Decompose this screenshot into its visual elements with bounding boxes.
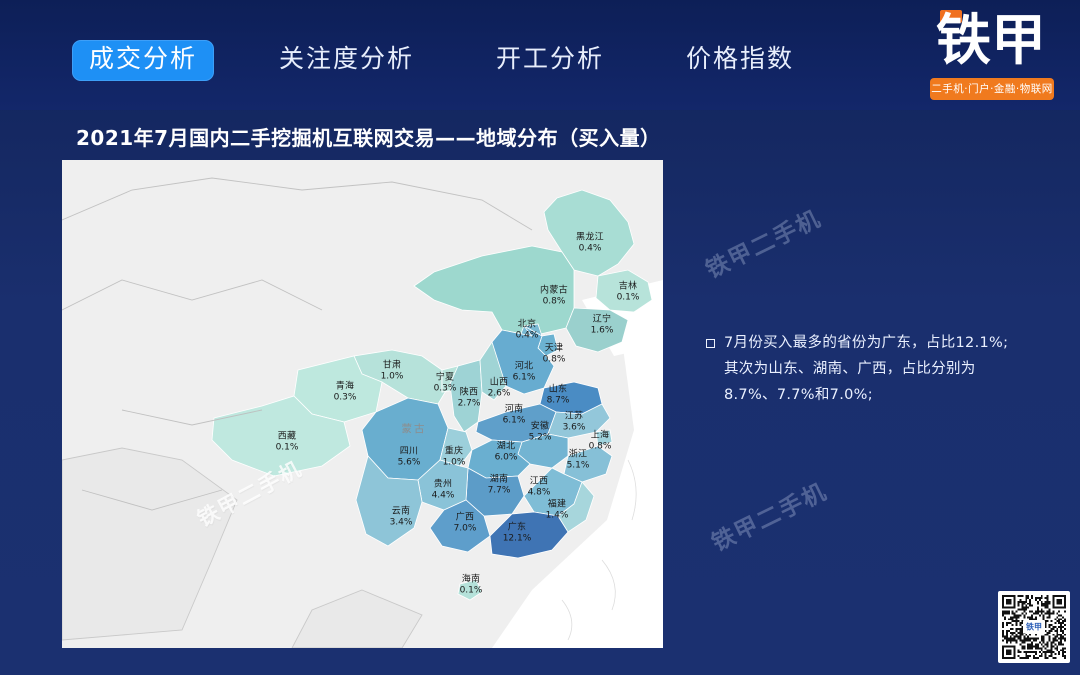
insight-line-3: 8.7%、7.7%和7.0%; [724,382,1008,408]
chart-title: 2021年7月国内二手挖掘机互联网交易——地域分布（买入量） [76,122,661,151]
tab-transaction-analysis[interactable]: 成交分析 [72,40,214,81]
insight-text: 7月份买入最多的省份为广东，占比12.1%; 其次为山东、湖南、广西，占比分别为… [724,330,1008,408]
qr-code[interactable]: 铁甲 [998,591,1070,663]
logo-mark: 铁甲 [920,8,1062,74]
insight-bullet-item: 7月份买入最多的省份为广东，占比12.1%; 其次为山东、湖南、广西，占比分别为… [706,330,1056,408]
tab-price-index[interactable]: 价格指数 [669,40,811,81]
china-choropleth-map[interactable]: 黑龙江0.4%内蒙古0.8%吉林0.1%辽宁1.6%北京0.4%天津0.8%河北… [62,160,663,648]
top-navigation-bar: 成交分析 关注度分析 开工分析 价格指数 铁甲 二手机·门户·金融·物联网 [0,0,1080,110]
tab-list: 成交分析 关注度分析 开工分析 价格指数 [72,36,811,84]
brand-logo: 铁甲 二手机·门户·金融·物联网 [920,8,1062,104]
tab-attention-analysis[interactable]: 关注度分析 [262,40,431,81]
tab-startup-analysis[interactable]: 开工分析 [479,40,621,81]
insight-line-2: 其次为山东、湖南、广西，占比分别为 [724,356,1008,382]
insight-panel: 7月份买入最多的省份为广东，占比12.1%; 其次为山东、湖南、广西，占比分别为… [706,330,1056,408]
logo-wordmark: 铁甲 [920,8,1062,72]
insight-line-1: 7月份买入最多的省份为广东，占比12.1%; [724,330,1008,356]
qr-center-logo: 铁甲 [1023,621,1045,634]
watermark: 铁甲二手机 [705,472,832,557]
map-svg [62,160,663,648]
watermark: 铁甲二手机 [699,199,826,284]
logo-tagline: 二手机·门户·金融·物联网 [930,78,1054,100]
slide-root: 成交分析 关注度分析 开工分析 价格指数 铁甲 二手机·门户·金融·物联网 20… [0,0,1080,675]
hollow-square-bullet-icon [706,339,715,348]
